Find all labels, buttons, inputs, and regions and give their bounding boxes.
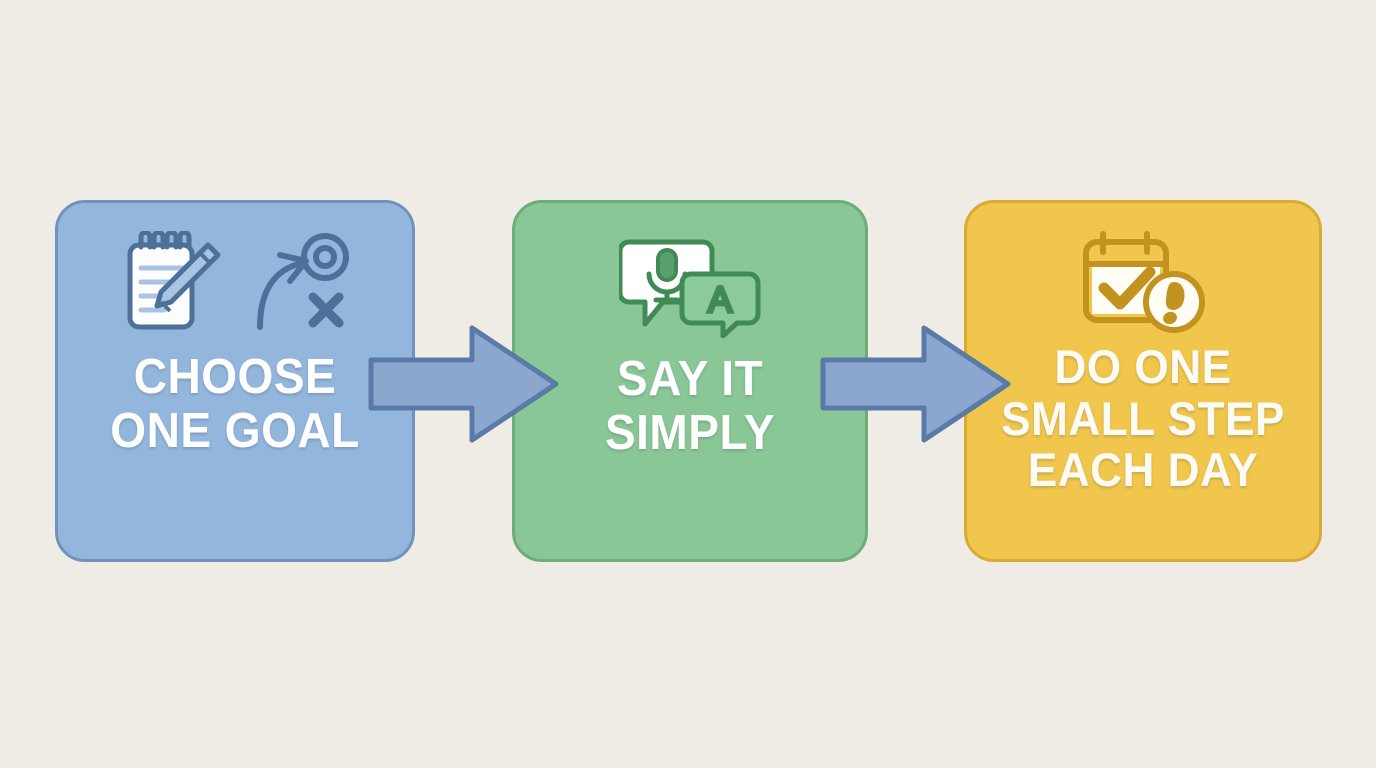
step-1-title: CHOOSE ONE GOAL: [57, 351, 412, 459]
step-3-title: DO ONE SMALL STEP EACH DAY: [966, 341, 1319, 496]
speech-bubbles-icon-group: A: [619, 236, 761, 343]
process-step-card-2[interactable]: A SAY IT SIMPLY: [512, 200, 868, 562]
svg-text:A: A: [708, 279, 732, 320]
notepad-pencil-icon: [116, 231, 224, 340]
process-step-card-1[interactable]: CHOOSE ONE GOAL: [55, 200, 415, 562]
speech-bubble-letter-a-icon: A: [682, 274, 758, 336]
step-1-icon-row: [58, 229, 412, 341]
arrow-step-2-to-3: [820, 322, 1012, 446]
diagram-canvas: CHOOSE ONE GOAL: [0, 0, 1376, 768]
calendar-footprint-icon-group: [1078, 230, 1208, 341]
target-strategy-icon: [250, 231, 354, 340]
step-2-title: SAY IT SIMPLY: [514, 353, 866, 461]
step-2-icon-row: A: [515, 233, 865, 345]
step-3-icon-row: [967, 229, 1319, 341]
process-step-card-3[interactable]: DO ONE SMALL STEP EACH DAY: [964, 200, 1322, 562]
arrow-step-1-to-2: [368, 322, 560, 446]
